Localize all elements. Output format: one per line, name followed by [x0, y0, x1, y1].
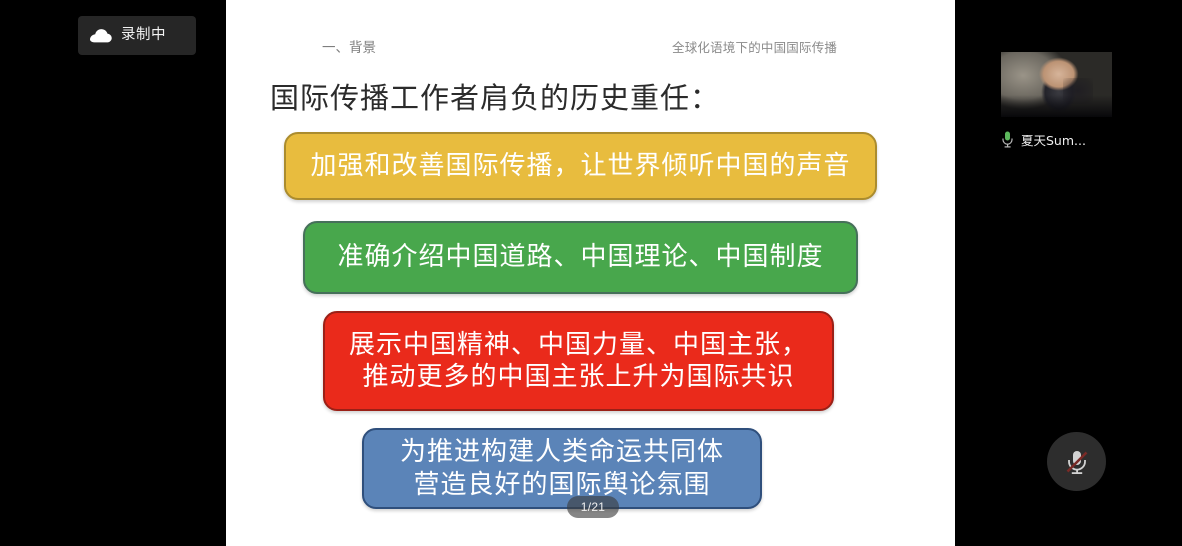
participant-video-image	[1001, 52, 1112, 117]
page-indicator: 1/21	[567, 496, 619, 518]
slide-box-red: 展示中国精神、中国力量、中国主张， 推动更多的中国主张上升为国际共识	[323, 311, 834, 411]
participant-name: 夏天Sum...	[1021, 130, 1086, 149]
participant-video-tile[interactable]	[1001, 52, 1112, 117]
microphone-icon	[1001, 131, 1014, 148]
cloud-icon	[90, 29, 112, 43]
slide-section-label: 一、背景	[322, 36, 376, 56]
recording-label: 录制中	[121, 28, 166, 43]
slide-box-green: 准确介绍中国道路、中国理论、中国制度	[303, 221, 858, 294]
slide-box-blue: 为推进构建人类命运共同体 营造良好的国际舆论氛围	[362, 428, 762, 509]
slide-deck-title: 全球化语境下的中国国际传播	[672, 37, 837, 56]
slide-box-yellow: 加强和改善国际传播，让世界倾听中国的声音	[284, 132, 877, 200]
slide-header: 一、背景 全球化语境下的中国国际传播	[226, 36, 955, 56]
meeting-screen-share-view: 录制中 一、背景 全球化语境下的中国国际传播 国际传播工作者肩负的历史重任： 加…	[0, 0, 1182, 546]
participant-info-row: 夏天Sum...	[1001, 128, 1121, 150]
slide-title: 国际传播工作者肩负的历史重任：	[270, 75, 720, 117]
participant-panel: 夏天Sum...	[955, 0, 1182, 546]
recording-badge[interactable]: 录制中	[78, 16, 196, 55]
mute-button[interactable]	[1047, 432, 1106, 491]
shared-slide[interactable]: 一、背景 全球化语境下的中国国际传播 国际传播工作者肩负的历史重任： 加强和改善…	[226, 0, 955, 546]
